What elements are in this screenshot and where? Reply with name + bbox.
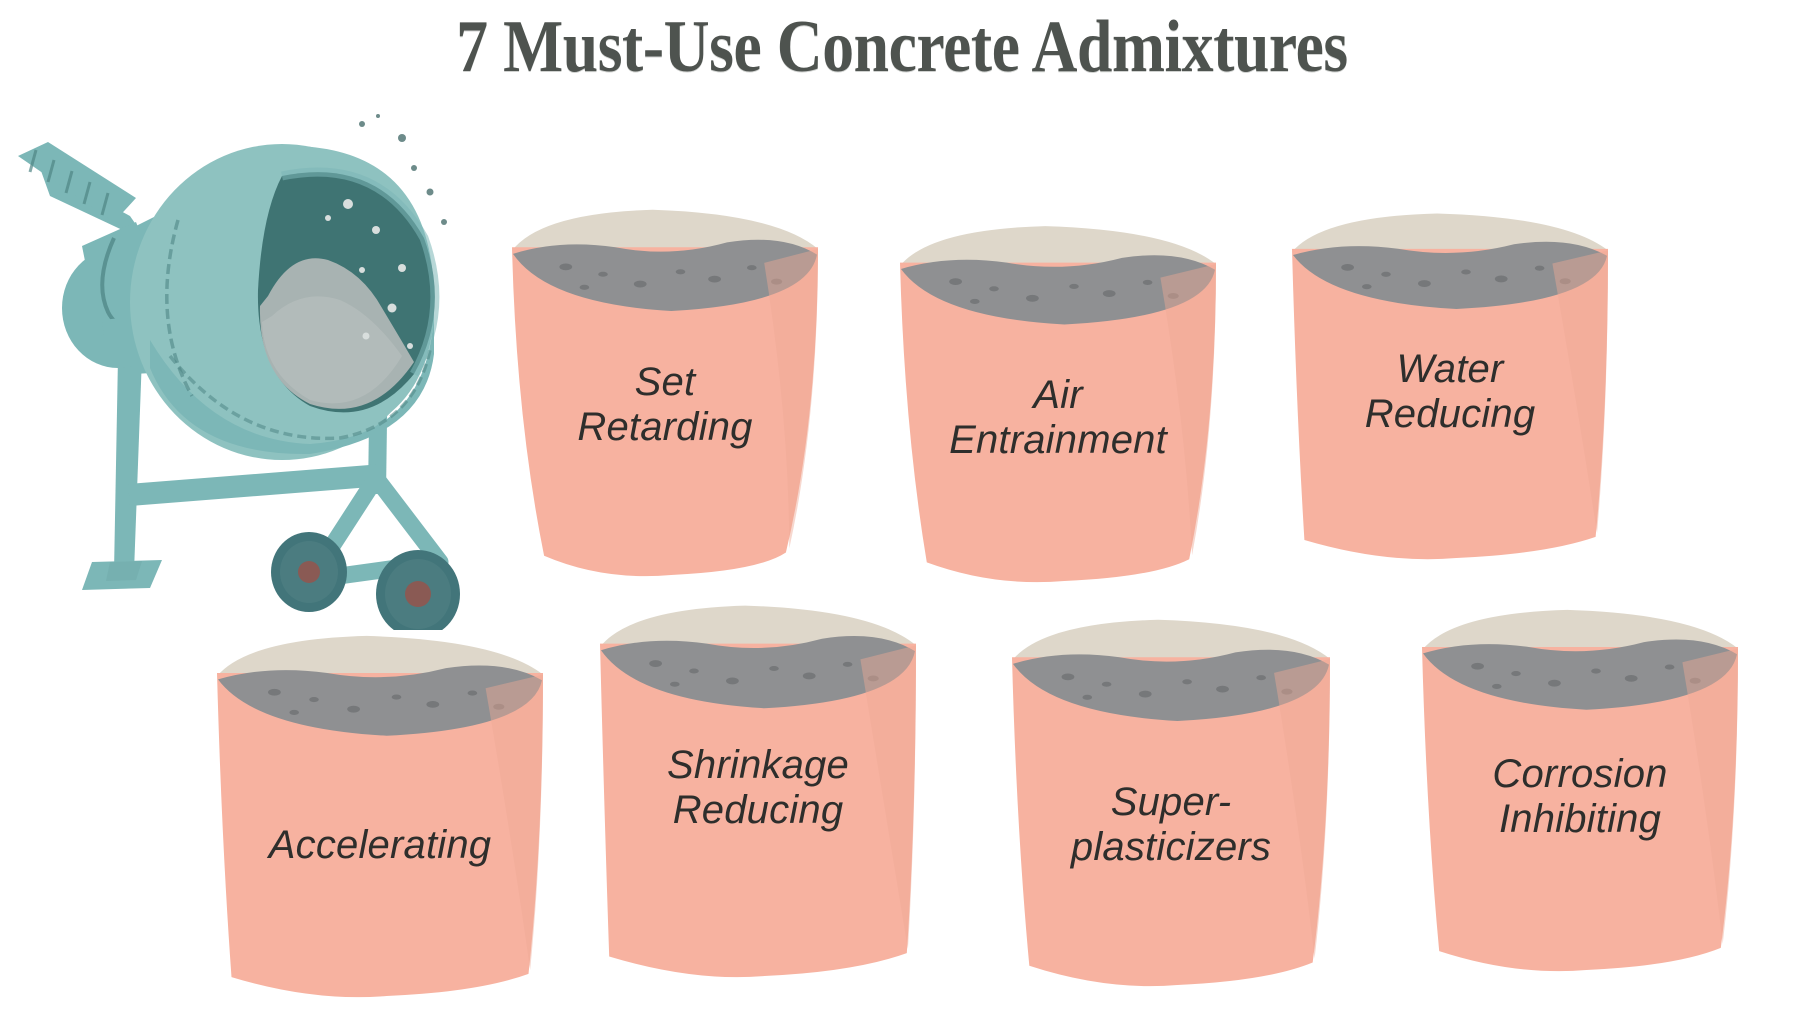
concrete-mixer-illustration — [10, 110, 490, 630]
mixer-drum — [130, 144, 435, 460]
infographic-canvas: 7 Must-Use Concrete Admixtures — [0, 0, 1804, 1028]
bucket-air-entrainment: Air Entrainment — [898, 238, 1218, 583]
bucket-water-reducing: Water Reducing — [1290, 225, 1610, 560]
bucket-shape-air-entrainment — [898, 238, 1218, 583]
page-title: 7 Must-Use Concrete Admixtures — [126, 4, 1677, 90]
bucket-shape-corrosion-inhibiting — [1420, 622, 1740, 972]
bucket-shape-super-plasticizers — [1010, 632, 1332, 987]
bucket-shape-water-reducing — [1290, 225, 1610, 560]
bucket-shape-shrinkage-reducing — [598, 618, 918, 978]
bucket-accelerating: Accelerating — [215, 648, 545, 998]
bucket-set-retarding: Set Retarding — [510, 222, 820, 577]
bucket-shrinkage-reducing: Shrinkage Reducing — [598, 618, 918, 978]
bucket-super-plasticizers: Super- plasticizers — [1010, 632, 1332, 987]
bucket-corrosion-inhibiting: Corrosion Inhibiting — [1420, 622, 1740, 972]
bucket-shape-set-retarding — [510, 222, 820, 577]
bucket-shape-accelerating — [215, 648, 545, 998]
